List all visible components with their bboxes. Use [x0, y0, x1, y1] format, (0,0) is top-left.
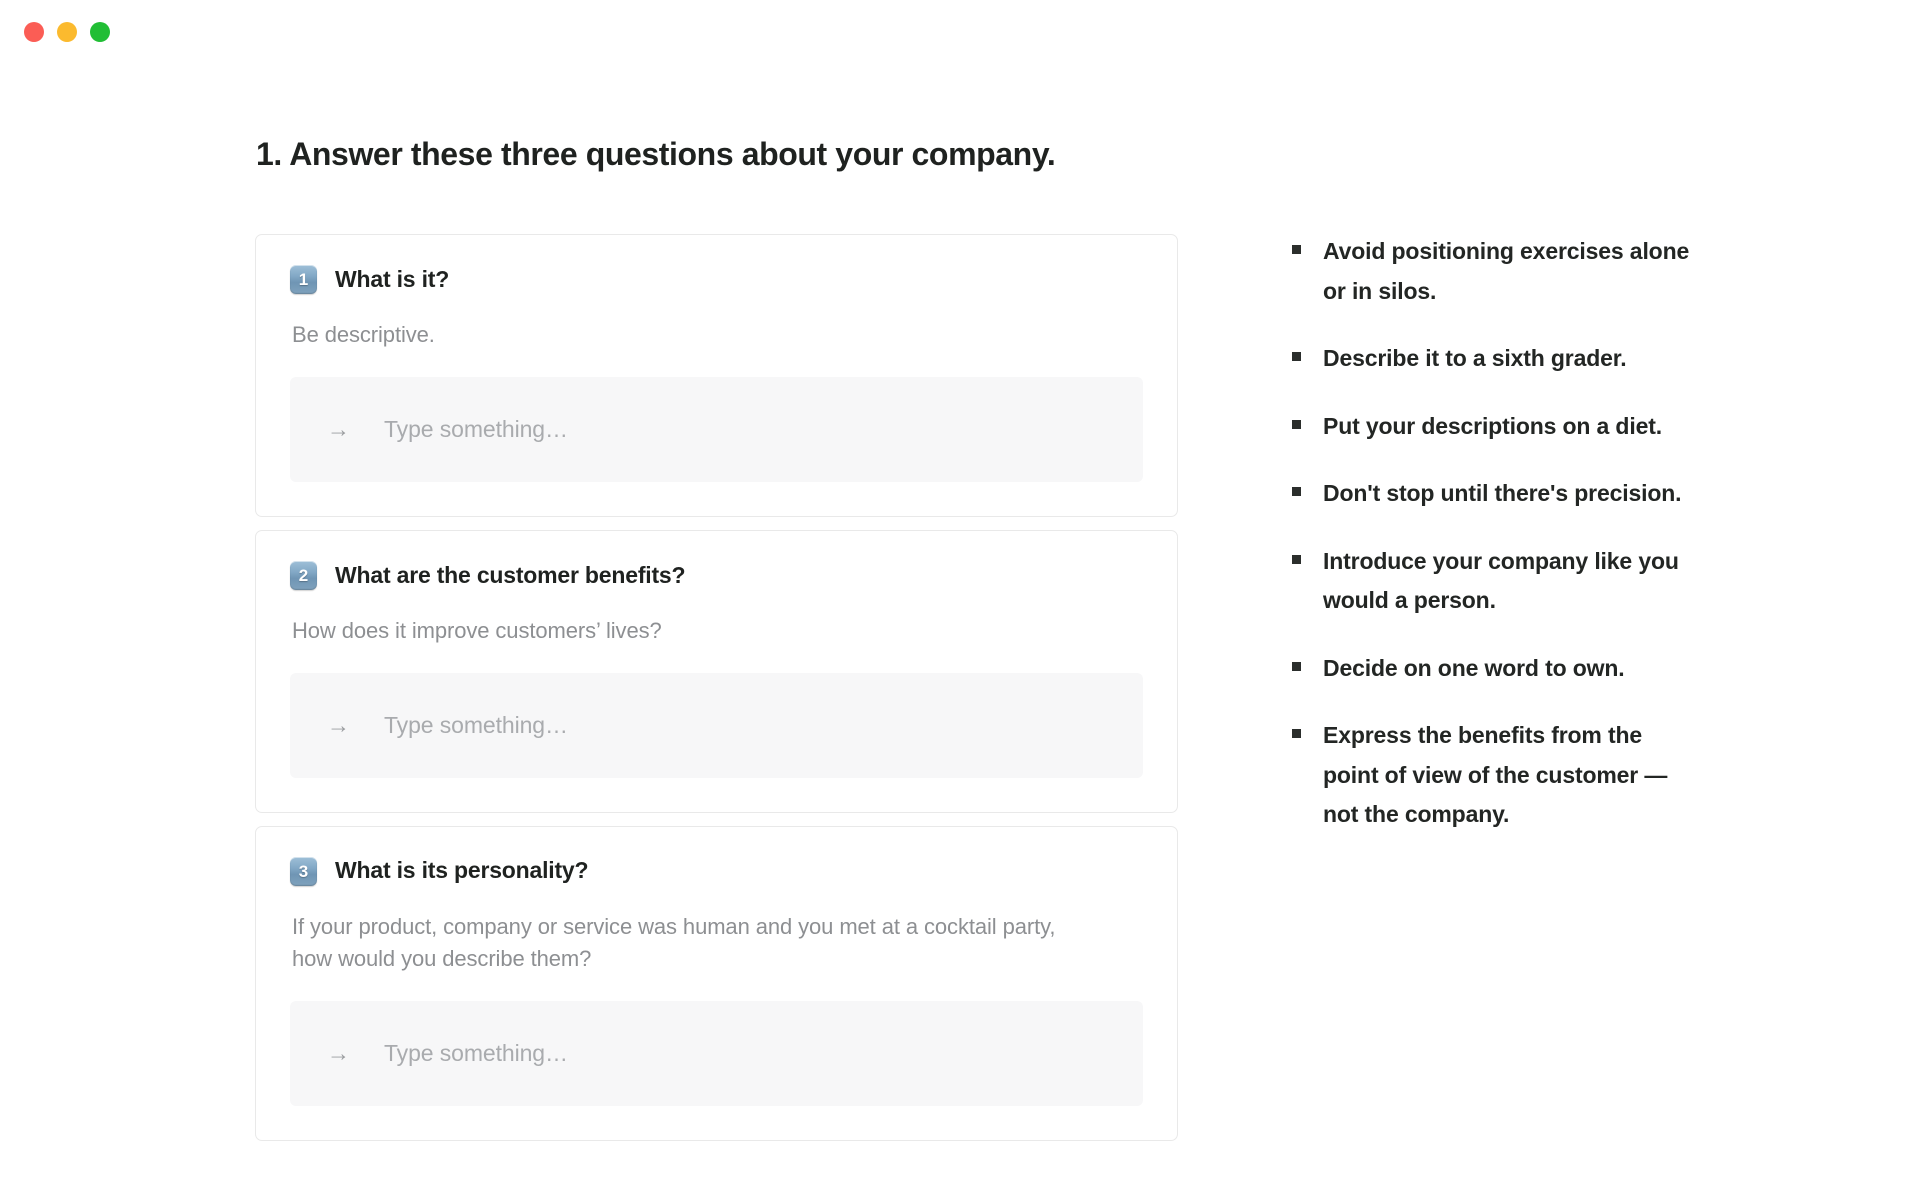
square-bullet-icon: [1292, 420, 1301, 429]
square-bullet-icon: [1292, 245, 1301, 254]
window-titlebar: [0, 0, 1920, 62]
question-header: 1 What is it?: [290, 265, 1143, 294]
list-item: Don't stop until there's precision.: [1292, 474, 1692, 514]
list-item: Express the benefits from the point of v…: [1292, 716, 1692, 835]
question-subtitle: How does it improve customers’ lives?: [292, 615, 1082, 647]
list-item: Avoid positioning exercises alone or in …: [1292, 232, 1692, 311]
answer-input-placeholder: Type something…: [384, 1040, 568, 1067]
question-subtitle: Be descriptive.: [292, 319, 1082, 351]
question-header: 2 What are the customer benefits?: [290, 561, 1143, 590]
tip-text: Decide on one word to own.: [1323, 649, 1625, 689]
square-bullet-icon: [1292, 662, 1301, 671]
number-badge-icon: 1: [290, 265, 317, 294]
number-badge-label: 2: [299, 567, 308, 584]
list-item: Decide on one word to own.: [1292, 649, 1692, 689]
tips-list: Avoid positioning exercises alone or in …: [1292, 232, 1692, 863]
number-badge-label: 3: [299, 863, 308, 880]
page-title: 1. Answer these three questions about yo…: [256, 134, 1055, 174]
list-item: Introduce your company like you would a …: [1292, 542, 1692, 621]
square-bullet-icon: [1292, 487, 1301, 496]
square-bullet-icon: [1292, 555, 1301, 564]
arrow-right-icon: →: [327, 418, 350, 441]
question-card-1[interactable]: 1 What is it? Be descriptive. → Type som…: [255, 234, 1178, 517]
square-bullet-icon: [1292, 352, 1301, 361]
tip-text: Avoid positioning exercises alone or in …: [1323, 232, 1692, 311]
question-header: 3 What is its personality?: [290, 857, 1143, 886]
traffic-lights: [24, 22, 110, 42]
answer-input-placeholder: Type something…: [384, 416, 568, 443]
tip-text: Describe it to a sixth grader.: [1323, 339, 1627, 379]
square-bullet-icon: [1292, 729, 1301, 738]
close-window-button[interactable]: [24, 22, 44, 42]
number-badge-icon: 2: [290, 561, 317, 590]
question-card-2[interactable]: 2 What are the customer benefits? How do…: [255, 530, 1178, 813]
answer-input-3[interactable]: → Type something…: [290, 1001, 1143, 1106]
question-card-3[interactable]: 3 What is its personality? If your produ…: [255, 826, 1178, 1141]
questions-list: 1 What is it? Be descriptive. → Type som…: [255, 234, 1178, 1154]
question-title: What is it?: [335, 266, 449, 294]
list-item: Describe it to a sixth grader.: [1292, 339, 1692, 379]
app-window: 1. Answer these three questions about yo…: [0, 0, 1920, 1200]
tip-text: Express the benefits from the point of v…: [1323, 716, 1692, 835]
answer-input-placeholder: Type something…: [384, 712, 568, 739]
answer-input-2[interactable]: → Type something…: [290, 673, 1143, 778]
answer-input-1[interactable]: → Type something…: [290, 377, 1143, 482]
number-badge-label: 1: [299, 271, 308, 288]
question-title: What is its personality?: [335, 857, 588, 885]
arrow-right-icon: →: [327, 714, 350, 737]
tip-text: Introduce your company like you would a …: [1323, 542, 1692, 621]
question-subtitle: If your product, company or service was …: [292, 911, 1082, 975]
tip-text: Don't stop until there's precision.: [1323, 474, 1681, 514]
number-badge-icon: 3: [290, 857, 317, 886]
list-item: Put your descriptions on a diet.: [1292, 407, 1692, 447]
question-title: What are the customer benefits?: [335, 562, 685, 590]
minimize-window-button[interactable]: [57, 22, 77, 42]
tip-text: Put your descriptions on a diet.: [1323, 407, 1662, 447]
maximize-window-button[interactable]: [90, 22, 110, 42]
arrow-right-icon: →: [327, 1042, 350, 1065]
